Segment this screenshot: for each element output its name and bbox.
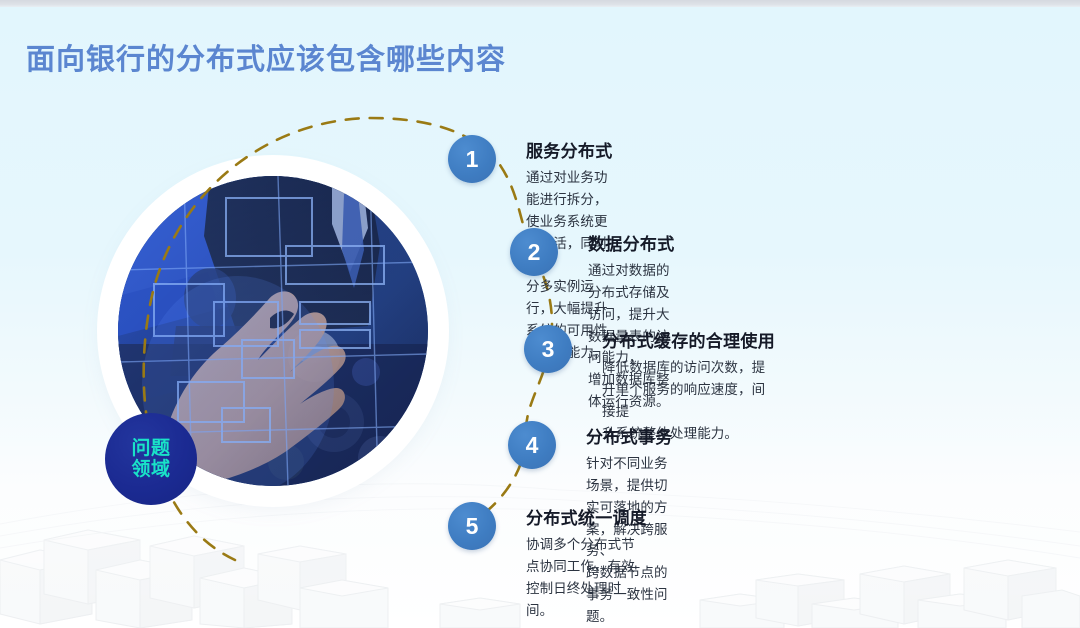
item-text-block-5: 分布式统一调度 协调多个分布式节点协同工作，有效控制日终处理时间。 [526, 504, 647, 621]
item-number-badge-2: 2 [510, 228, 558, 276]
item-number-badge-4: 4 [508, 421, 556, 469]
slide-canvas: 面向银行的分布式应该包含哪些内容 [0, 0, 1080, 628]
item-heading-3: 分布式缓存的合理使用 [602, 327, 775, 352]
item-number-badge-3: 3 [524, 325, 572, 373]
top-grey-bar [0, 0, 1080, 7]
item-description-5: 协调多个分布式节点协同工作，有效控制日终处理时间。 [526, 534, 647, 621]
item-heading-5: 分布式统一调度 [526, 504, 647, 529]
item-heading-1: 服务分布式 [526, 137, 613, 162]
item-number-badge-5: 5 [448, 502, 496, 550]
item-heading-4: 分布式事务 [586, 423, 673, 448]
content-items-list: 1 服务分布式 通过对业务功能进行拆分，使业务系统更加灵活，同时每部 分多实例运… [0, 0, 1080, 628]
item-number-badge-1: 1 [448, 135, 496, 183]
item-heading-2: 数据分布式 [588, 230, 675, 255]
